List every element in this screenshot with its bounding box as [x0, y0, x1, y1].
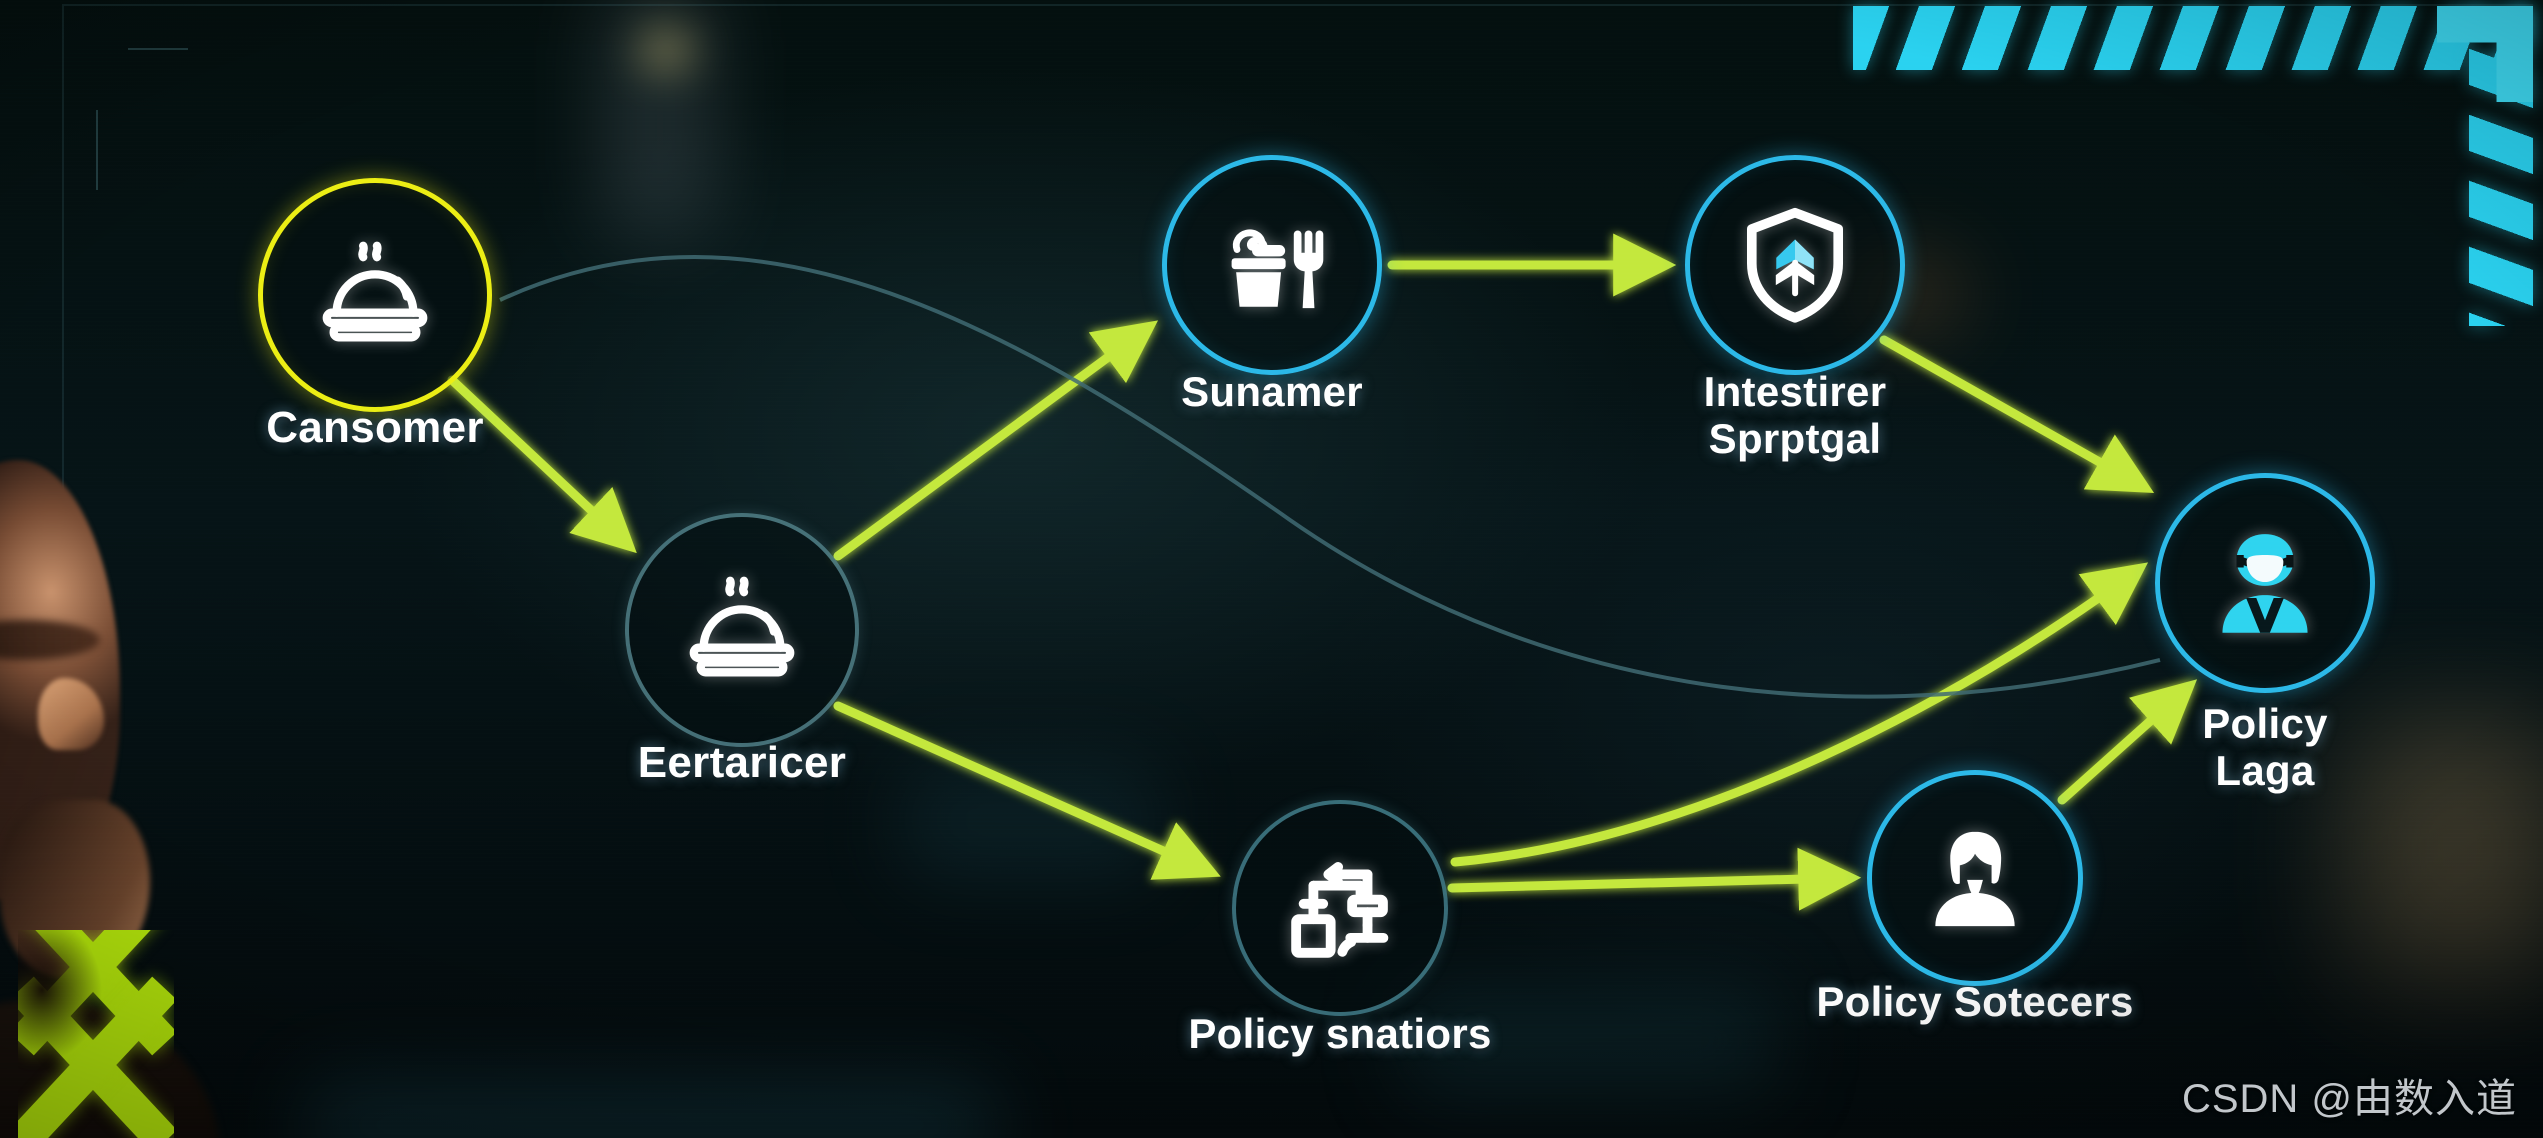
- edge-eertaricer-policysnatiors: [838, 706, 1206, 870]
- node-policy-laga[interactable]: [2155, 473, 2375, 693]
- node-label-sunamer: Sunamer: [1072, 368, 1472, 415]
- edge-policysnatiors-policysotecers: [1452, 878, 1845, 888]
- node-label-intestirer-sprptgal: Intestirer Sprptgal: [1595, 368, 1995, 462]
- node-label-cansomer: Cansomer: [175, 403, 575, 452]
- node-policy-snatiors[interactable]: [1232, 800, 1448, 1016]
- takeout-box-fork-icon: [1213, 210, 1331, 320]
- node-policy-sotecers[interactable]: [1867, 770, 2083, 986]
- shield-leaf-icon: [1737, 205, 1853, 325]
- workflow-diagram-icon: [1284, 852, 1396, 964]
- screen-canvas: Cansomer Eertaricer: [0, 0, 2543, 1138]
- csdn-watermark: CSDN @由数入道: [2182, 1066, 2517, 1124]
- food-cloche-icon: [683, 571, 801, 689]
- node-label-policy-sotecers: Policy Sotecers: [1775, 978, 2175, 1025]
- person-female-icon: [1919, 822, 2031, 934]
- node-eertaricer[interactable]: [625, 513, 859, 747]
- food-cloche-icon: [316, 236, 434, 354]
- node-sunamer[interactable]: [1162, 155, 1382, 375]
- person-agent-icon: [2207, 525, 2323, 641]
- node-label-policy-laga: Policy Laga: [2090, 700, 2440, 794]
- node-cansomer[interactable]: [258, 178, 492, 412]
- node-label-policy-snatiors: Policy snatiors: [1140, 1010, 1540, 1057]
- edge-eertaricer-sunamer: [838, 330, 1145, 556]
- node-label-eertaricer: Eertaricer: [542, 738, 942, 787]
- node-intestirer-sprptgal[interactable]: [1685, 155, 1905, 375]
